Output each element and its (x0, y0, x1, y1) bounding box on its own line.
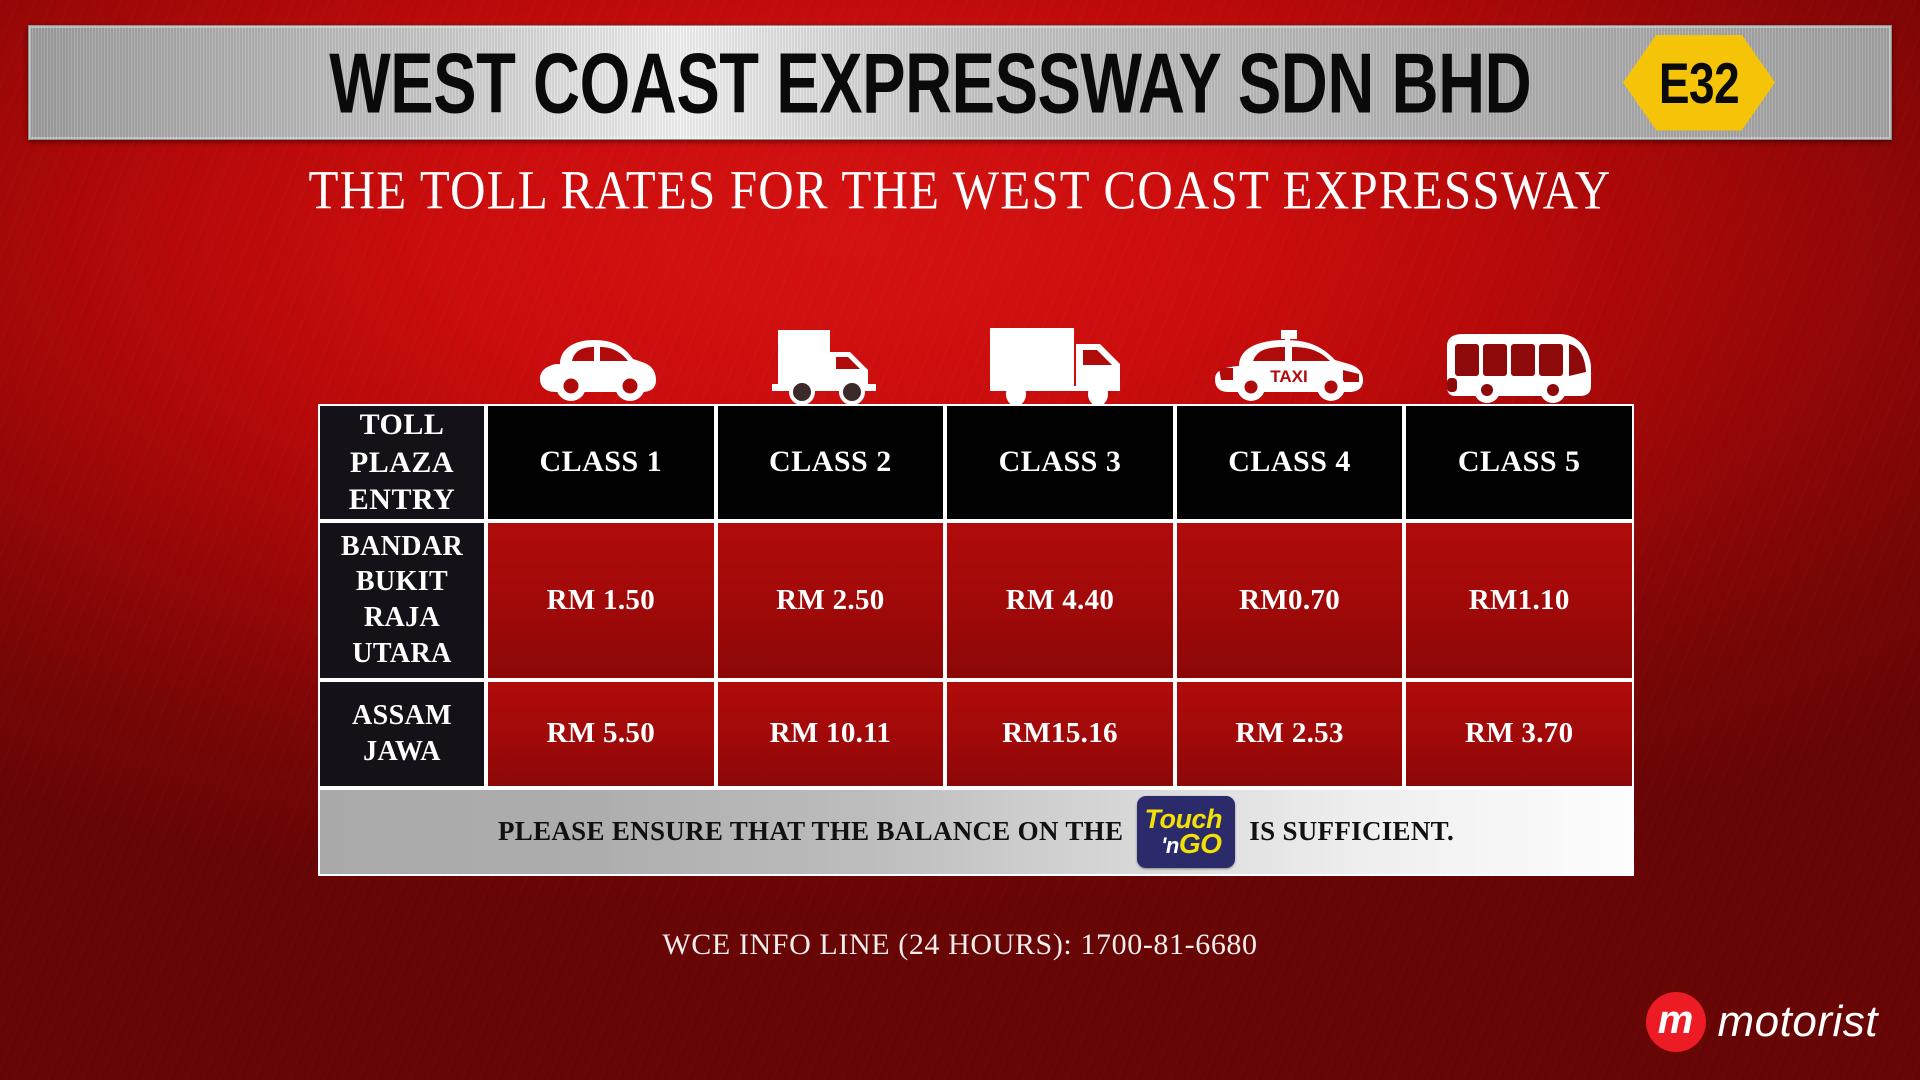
taxi-label: TAXI (1270, 367, 1307, 386)
rate-cell-class1: RM 1.50 (486, 521, 716, 680)
plaza-name-line2: JAWA (324, 734, 480, 770)
touch-n-go-logo: Touch 'nGO (1137, 796, 1235, 868)
plaza-name-line2: BUKIT RAJA (324, 564, 480, 636)
icon-slot-class5 (1404, 312, 1634, 404)
icon-slot-class2 (713, 312, 943, 404)
column-header-toll-plaza: TOLL PLAZA ENTRY (318, 404, 486, 521)
rate-cell-class1: RM 5.50 (486, 680, 716, 788)
vehicle-class-icon-strip: TAXI (318, 312, 1634, 404)
touch-n-go-bottom-text: 'nGO (1161, 831, 1221, 857)
taxi-icon: TAXI (1213, 330, 1365, 404)
page-title: WEST COAST EXPRESSWAY SDN BHD (329, 34, 1531, 132)
bus-icon (1443, 332, 1595, 404)
table-row: BANDAR BUKIT RAJA UTARA RM 1.50 RM 2.50 … (318, 521, 1634, 680)
table-header-row: TOLL PLAZA ENTRY CLASS 1 CLASS 2 CLASS 3… (318, 404, 1634, 521)
rate-cell-class4: RM0.70 (1175, 521, 1405, 680)
plaza-name-line3: UTARA (324, 636, 480, 672)
icon-slot-class3 (943, 312, 1173, 404)
rate-cell-class2: RM 10.11 (716, 680, 946, 788)
column-header-class1: CLASS 1 (486, 404, 716, 521)
rate-cell-class5: RM1.10 (1404, 521, 1634, 680)
table-notice-row: PLEASE ENSURE THAT THE BALANCE ON THE To… (318, 788, 1634, 876)
plaza-name-line1: ASSAM (324, 698, 480, 734)
motorist-mark-letter: m (1658, 998, 1694, 1043)
touch-n-go-go-text: GO (1179, 828, 1222, 859)
touch-n-go-n-text: 'n (1161, 833, 1179, 858)
row-header-plaza: ASSAM JAWA (318, 680, 486, 788)
notice-text-after: IS SUFFICIENT. (1249, 816, 1454, 847)
column-header-line2: ENTRY (320, 481, 484, 519)
column-header-line1: TOLL PLAZA (320, 406, 484, 481)
table-row: ASSAM JAWA RM 5.50 RM 10.11 RM15.16 RM 2… (318, 680, 1634, 788)
info-line: WCE INFO LINE (24 HOURS): 1700-81-6680 (0, 928, 1920, 962)
column-header-class2: CLASS 2 (716, 404, 946, 521)
plaza-name-line1: BANDAR (324, 529, 480, 565)
column-header-class4: CLASS 4 (1175, 404, 1405, 521)
toll-rates-table: TOLL PLAZA ENTRY CLASS 1 CLASS 2 CLASS 3… (318, 404, 1634, 876)
route-badge-label: E32 (1659, 49, 1739, 117)
notice-bar: PLEASE ENSURE THAT THE BALANCE ON THE To… (318, 788, 1634, 876)
motorist-brand-logo: m motorist (1646, 992, 1878, 1052)
icon-slot-spacer (318, 312, 483, 404)
column-header-class5: CLASS 5 (1404, 404, 1634, 521)
route-badge: E32 (1623, 35, 1775, 131)
car-icon (538, 328, 658, 404)
header-plate: WEST COAST EXPRESSWAY SDN BHD E32 (28, 25, 1892, 140)
notice-text-before: PLEASE ENSURE THAT THE BALANCE ON THE (498, 816, 1123, 847)
icon-slot-class4: TAXI (1173, 312, 1403, 404)
row-header-plaza: BANDAR BUKIT RAJA UTARA (318, 521, 486, 680)
motorist-wordmark: motorist (1718, 997, 1878, 1047)
rate-cell-class2: RM 2.50 (716, 521, 946, 680)
rate-cell-class4: RM 2.53 (1175, 680, 1405, 788)
motorist-mark-icon: m (1646, 992, 1706, 1052)
column-header-class3: CLASS 3 (945, 404, 1175, 521)
icon-slot-class1 (483, 312, 713, 404)
subtitle: THE TOLL RATES FOR THE WEST COAST EXPRES… (0, 158, 1920, 222)
large-truck-icon (988, 326, 1128, 404)
small-truck-icon (772, 326, 884, 404)
rate-cell-class5: RM 3.70 (1404, 680, 1634, 788)
rate-cell-class3: RM 4.40 (945, 521, 1175, 680)
rate-cell-class3: RM15.16 (945, 680, 1175, 788)
